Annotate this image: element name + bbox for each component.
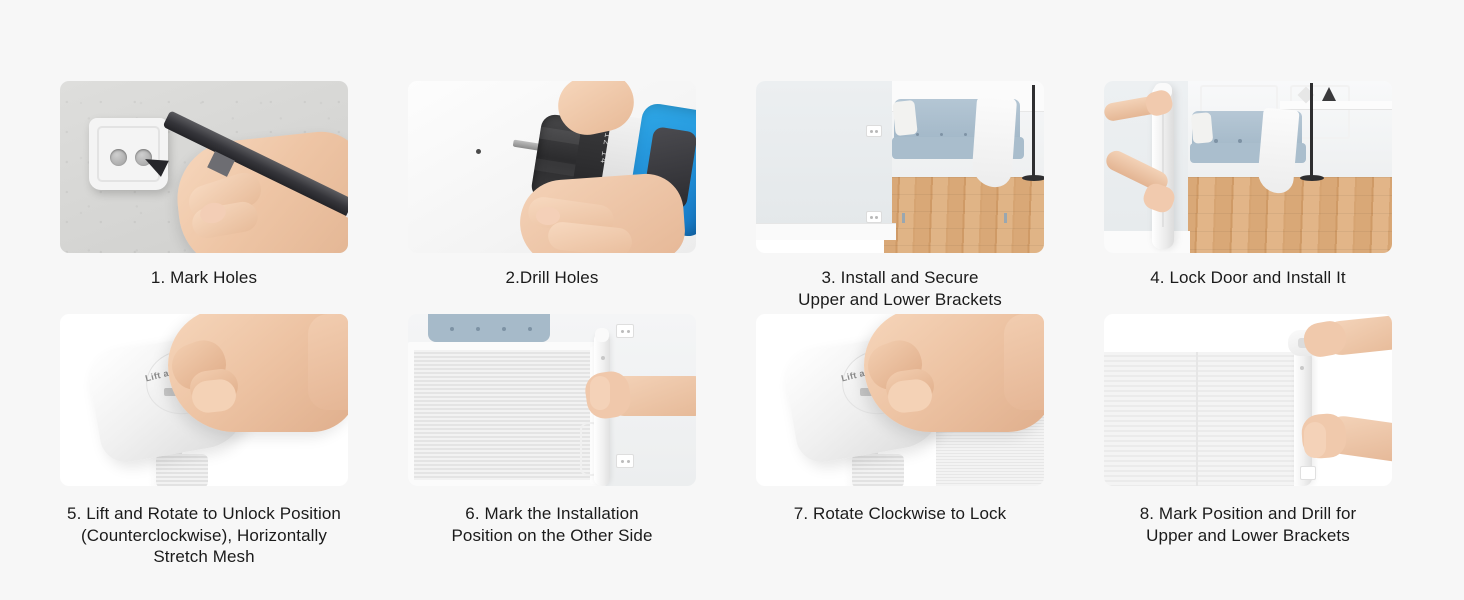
upper-bracket: [616, 324, 634, 338]
mesh-seam: [1196, 352, 1198, 486]
lift-rotate-unlock-photo: Lift and Rotate: [60, 314, 348, 486]
lower-bracket: [616, 454, 634, 468]
step-caption-4: 4. Lock Door and Install It: [1104, 267, 1392, 289]
decor-object-triangle: [1322, 87, 1336, 101]
floor-lamp-pole: [1310, 83, 1313, 179]
rotate-clockwise-lock-photo: Lift and Rotate: [756, 314, 1044, 486]
sofa-tuft: [528, 327, 532, 331]
floor-lamp-pole: [1032, 85, 1035, 179]
sofa-tuft: [502, 327, 506, 331]
sofa-leg: [1004, 213, 1007, 223]
step-card-2: 12 14 2.Drill Holes: [408, 81, 696, 310]
pillow: [892, 100, 917, 136]
wrist: [1004, 314, 1044, 410]
post-marker-dot: [1300, 366, 1304, 370]
step-card-8: 8. Mark Position and Drill for Upper and…: [1104, 314, 1392, 568]
step-caption-7: 7. Rotate Clockwise to Lock: [756, 503, 1044, 525]
steps-row-1: 1. Mark Holes 12 14 2.Drill Holes: [60, 81, 1405, 310]
white-throw-blanket: [971, 96, 1017, 189]
steps-row-2: Lift and Rotate 5. Lift and Rotate to Un…: [60, 314, 1405, 568]
bracket-hole-left: [110, 149, 127, 166]
baseboard: [1104, 231, 1190, 253]
step-card-1: 1. Mark Holes: [60, 81, 348, 310]
baseboard: [756, 223, 896, 240]
step-caption-5: 5. Lift and Rotate to Unlock Position (C…: [60, 503, 348, 568]
mark-holes-photo: [60, 81, 348, 253]
step-caption-2: 2.Drill Holes: [408, 267, 696, 289]
upper-bracket: [866, 125, 882, 137]
mesh-spool: [156, 454, 208, 486]
floor-lamp-base: [1300, 175, 1324, 181]
decor-shelf: [1280, 101, 1392, 110]
step-caption-8: 8. Mark Position and Drill for Upper and…: [1104, 503, 1392, 546]
floor-lamp-base: [1022, 175, 1044, 181]
lock-door-photo: [1104, 81, 1392, 253]
post-cap: [595, 328, 609, 342]
install-brackets-photo: [756, 81, 1044, 253]
wood-floor: [884, 177, 1044, 253]
lower-bracket: [1300, 466, 1316, 480]
near-wall: [756, 81, 892, 231]
white-throw-blanket: [1256, 108, 1299, 195]
step-card-6: 6. Mark the Installation Position on the…: [408, 314, 696, 568]
installation-steps-infographic: 1. Mark Holes 12 14 2.Drill Holes: [0, 0, 1464, 600]
mark-other-side-photo: [408, 314, 696, 486]
post-marker-dot: [601, 356, 605, 360]
thumbnail: [536, 207, 560, 225]
step-card-5: Lift and Rotate 5. Lift and Rotate to Un…: [60, 314, 348, 568]
step-card-7: Lift and Rotate 7. Rotate Clockwise to L…: [756, 314, 1044, 568]
mark-drill-brackets-photo: [1104, 314, 1392, 486]
drill-holes-photo: 12 14: [408, 81, 696, 253]
fingers: [1304, 422, 1326, 458]
pillow: [1191, 112, 1214, 144]
gate-mesh: [1104, 352, 1294, 486]
step-caption-3: 3. Install and Secure Upper and Lower Br…: [756, 267, 1044, 310]
sofa-tuft: [916, 133, 919, 136]
wrist: [308, 314, 348, 410]
sofa-leg: [902, 213, 905, 223]
lower-bracket: [866, 211, 882, 223]
step-card-3: 3. Install and Secure Upper and Lower Br…: [756, 81, 1044, 310]
marked-dot: [476, 149, 481, 154]
gate-mesh: [414, 350, 590, 480]
fingers: [590, 376, 610, 410]
sofa-back: [428, 314, 550, 342]
step-card-4: 4. Lock Door and Install It: [1104, 81, 1392, 310]
sofa-tuft: [964, 133, 967, 136]
sofa-tuft: [450, 327, 454, 331]
mesh-spool: [852, 454, 904, 486]
sofa-tuft: [476, 327, 480, 331]
sofa-tuft: [940, 133, 943, 136]
step-caption-1: 1. Mark Holes: [60, 267, 348, 289]
step-caption-6: 6. Mark the Installation Position on the…: [408, 503, 696, 546]
